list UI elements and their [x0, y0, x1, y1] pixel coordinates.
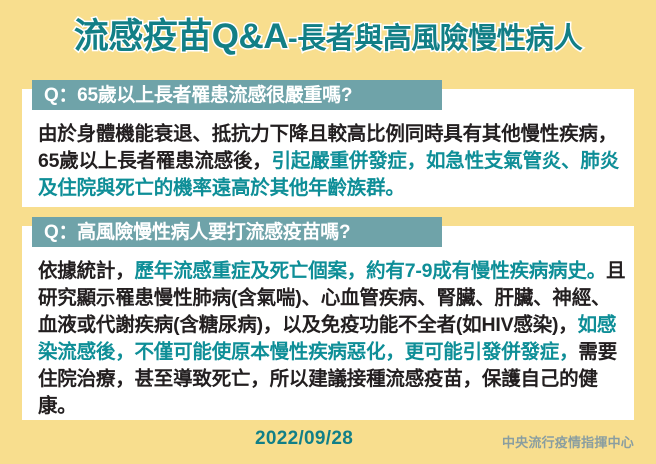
question-text-2: Q：高風險慢性病人要打流感疫苗嗎? — [44, 223, 350, 242]
question-bar-2: Q：高風險慢性病人要打流感疫苗嗎? — [32, 217, 442, 247]
title-main: 流感疫苗Q&A — [74, 17, 288, 56]
poster-root: 流感疫苗Q&A-長者與高風險慢性病人 Q：65歲以上長者罹患流感很嚴重嗎? 由於… — [0, 0, 656, 464]
answer-text-1: 由於身體機能衰退、抵抗力下降且較高比例同時具有其他慢性疾病，65歲以上長者罹患流… — [38, 121, 626, 202]
question-bar-1: Q：65歲以上長者罹患流感很嚴重嗎? — [32, 80, 442, 110]
answer-segment-highlight: 歷年流感重症及死亡個案，約有7-9成有慢性疾病病史。 — [135, 260, 606, 282]
footer-agency: 中央流行疫情指揮中心 — [502, 432, 634, 451]
question-text-1: Q：65歲以上長者罹患流感很嚴重嗎? — [44, 86, 352, 105]
answer-text-2: 依據統計，歷年流感重症及死亡個案，約有7-9成有慢性疾病病史。且研究顯示罹患慢性… — [38, 258, 626, 420]
page-title: 流感疫苗Q&A-長者與高風險慢性病人 — [0, 10, 656, 66]
title-text: 流感疫苗Q&A-長者與高風險慢性病人 — [74, 10, 582, 66]
answer-segment: 依據統計， — [38, 260, 135, 282]
title-subtitle: -長者與高風險慢性病人 — [288, 23, 582, 55]
footer-date: 2022/09/28 — [255, 428, 353, 450]
